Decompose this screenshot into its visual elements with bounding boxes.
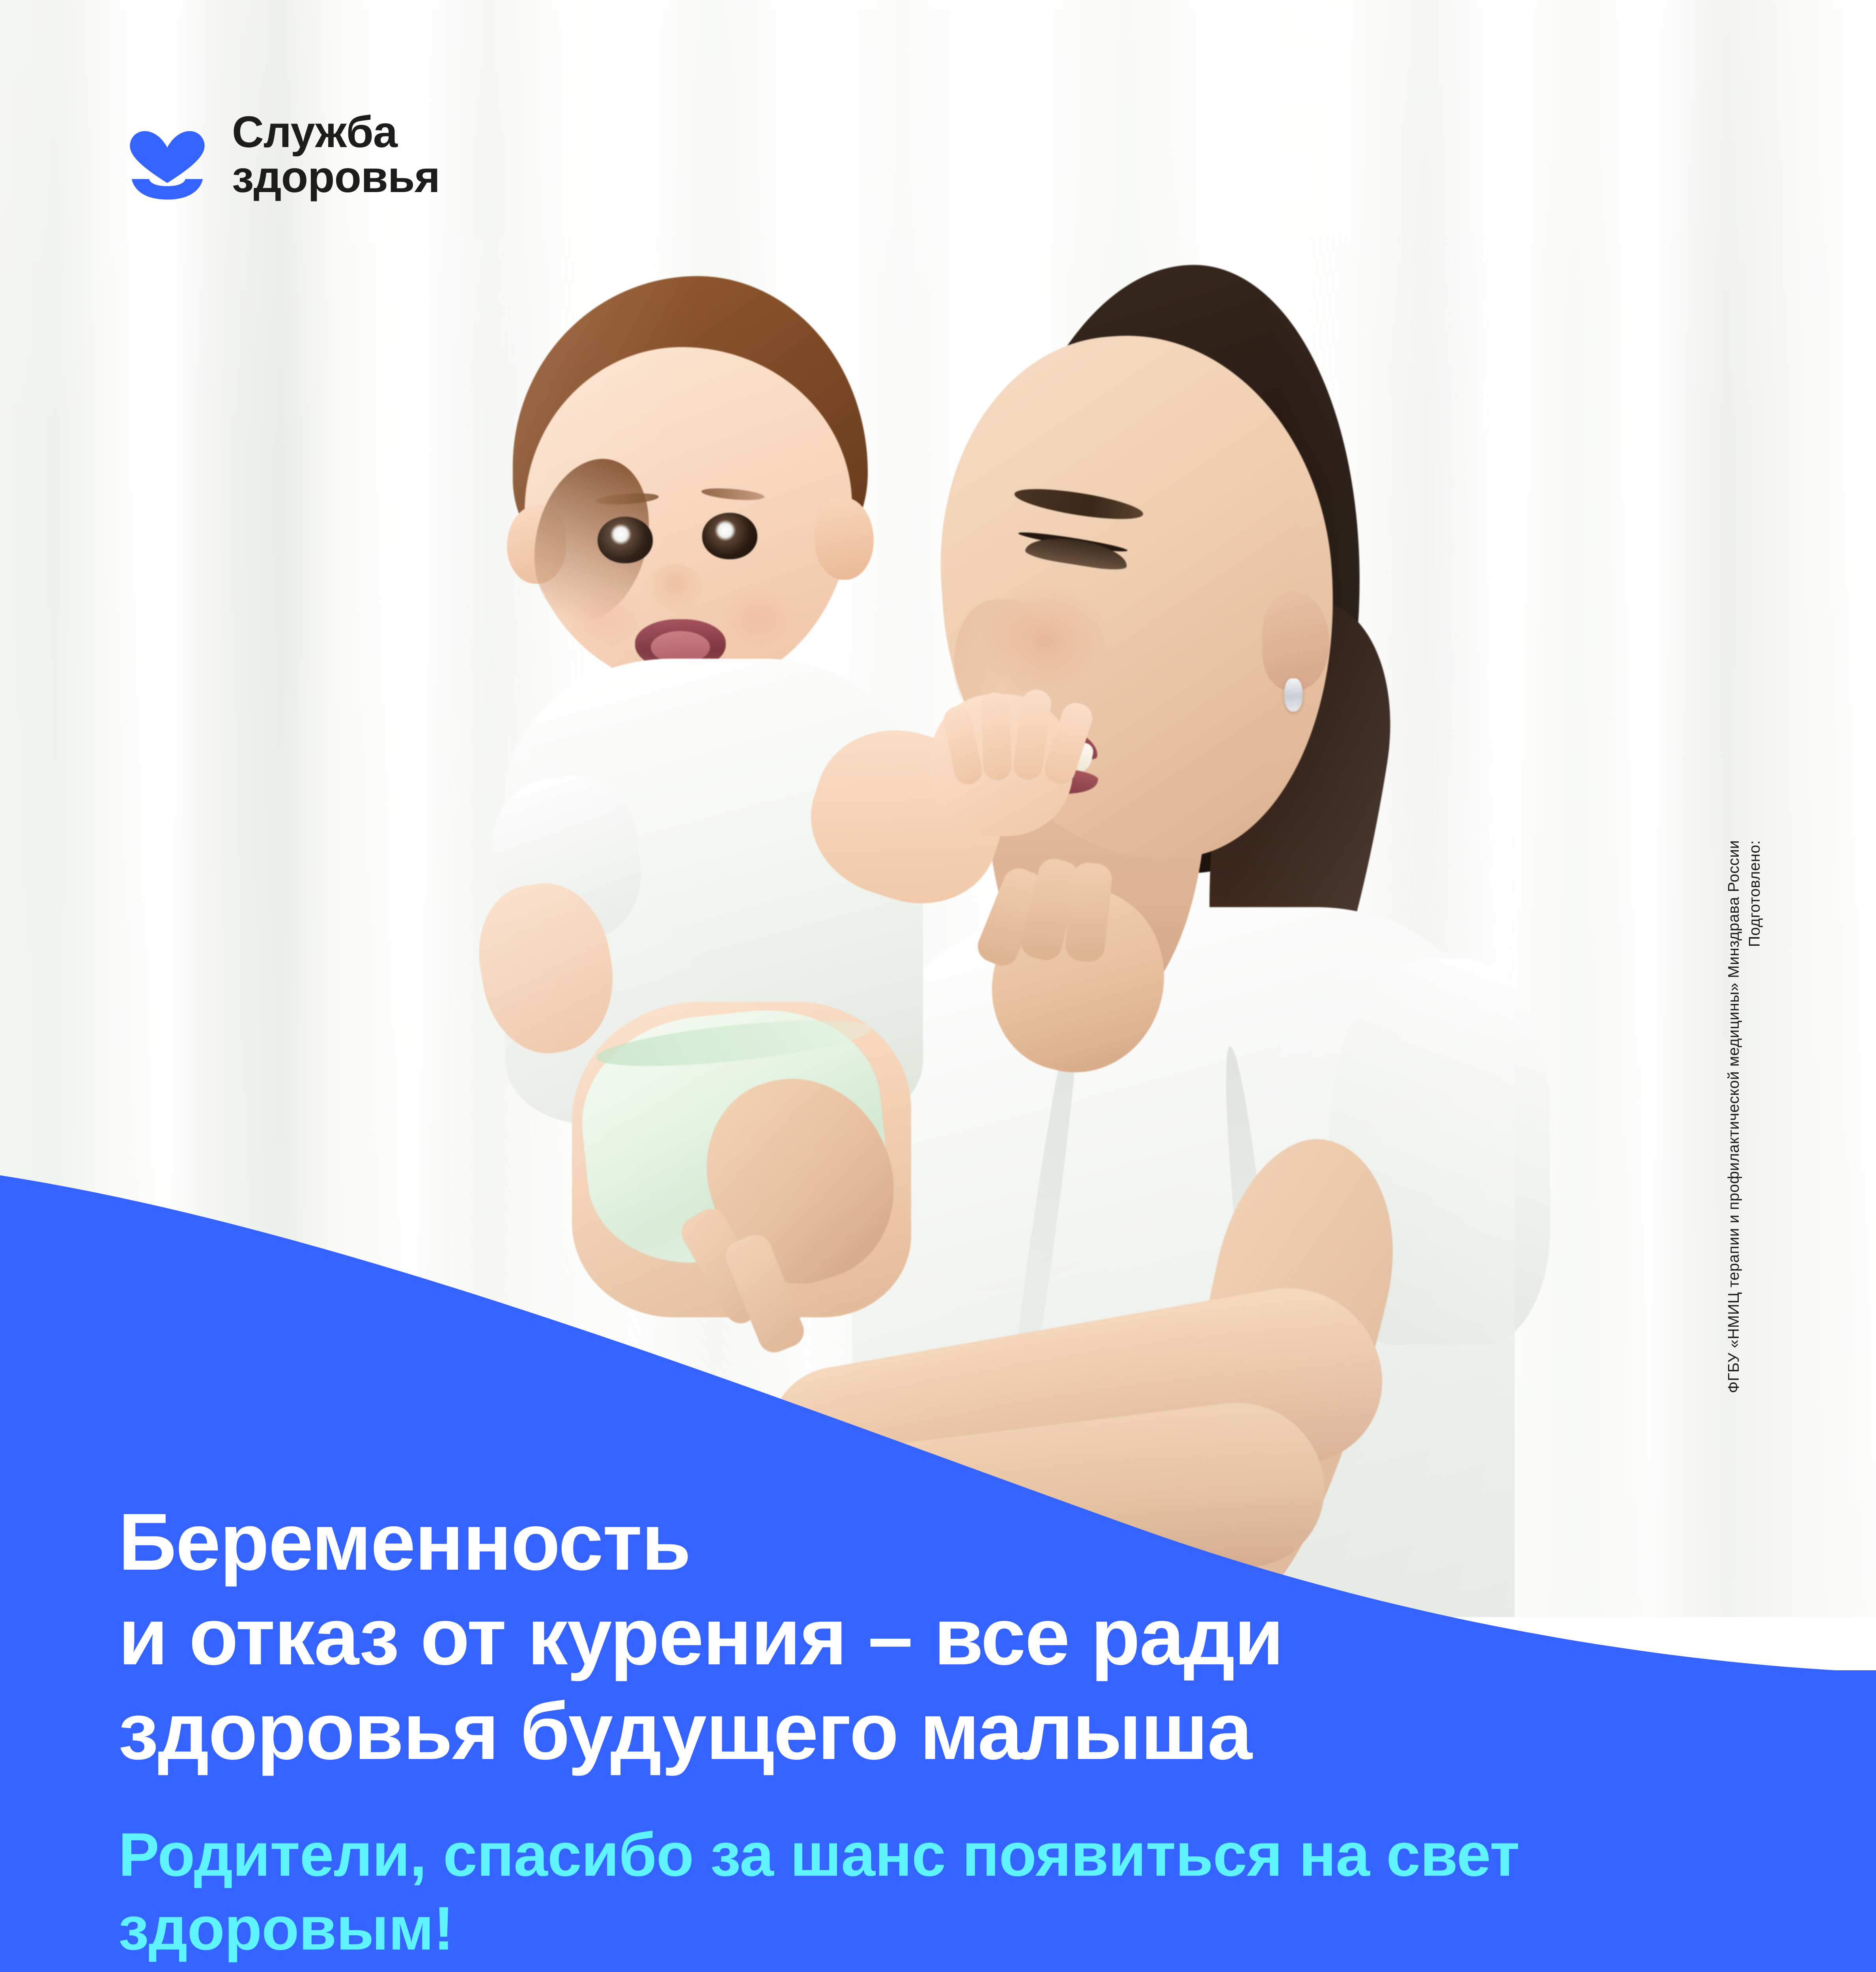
credit-line-1: Подготовлено: <box>1747 840 1762 947</box>
baby-eye-right <box>702 513 757 559</box>
headline-line-3: здоровья будущего малыша <box>118 1684 1696 1779</box>
mother-and-baby-figure <box>465 252 1499 1617</box>
headline-line-1: Беременность <box>118 1495 1696 1589</box>
earring <box>1284 678 1302 711</box>
subheadline-line-2: здоровым! <box>118 1892 1775 1966</box>
baby-finger <box>981 692 1012 781</box>
logo-line-2: здоровья <box>232 155 440 200</box>
logo-line-1: Служба <box>232 110 440 155</box>
baby-ear-right <box>815 497 874 580</box>
subheadline-line-1: Родители, спасибо за шанс появиться на с… <box>118 1818 1775 1892</box>
credit-line-2: ФГБУ «НМИЦ терапии и профилактической ме… <box>1726 840 1741 1393</box>
hero-photo <box>0 0 1876 1617</box>
headline: Беременность и отказ от курения – все ра… <box>118 1495 1696 1779</box>
baby-cheek-right <box>718 584 797 651</box>
baby-eye-left <box>598 517 653 563</box>
subheadline: Родители, спасибо за шанс появиться на с… <box>118 1818 1775 1966</box>
baby-nose <box>645 564 704 611</box>
heart-smile-icon <box>125 110 209 200</box>
credit-vertical: Подготовлено: ФГБУ «НМИЦ терапии и профи… <box>1703 840 1762 1534</box>
logo: Служба здоровья <box>125 110 440 200</box>
poster-root: Служба здоровья Подготовлено: ФГБУ «НМИЦ… <box>0 0 1876 1972</box>
baby-cheek-left <box>564 584 643 651</box>
headline-line-2: и отказ от курения – все ради <box>118 1589 1696 1684</box>
logo-wordmark: Служба здоровья <box>232 110 440 200</box>
